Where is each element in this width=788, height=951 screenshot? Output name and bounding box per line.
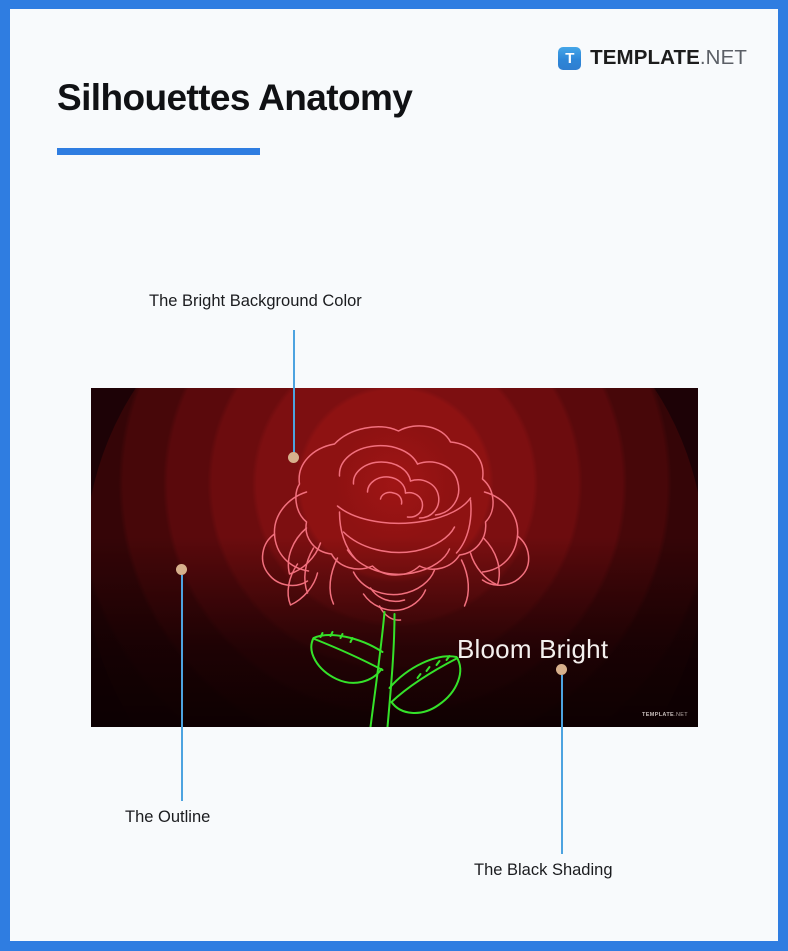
annotation-connector-outline — [181, 575, 183, 801]
annotation-connector-black-shading — [561, 675, 563, 854]
document-page: T TEMPLATE.NET Silhouettes Anatomy — [10, 9, 778, 941]
brand-name-tld: .NET — [700, 46, 747, 69]
logo-letter-t: T — [565, 51, 574, 66]
annotation-dot-bright-background-color — [288, 452, 299, 463]
page-title: Silhouettes Anatomy — [57, 75, 412, 121]
artwork-caption: Bloom Bright — [457, 636, 608, 662]
page-border: T TEMPLATE.NET Silhouettes Anatomy — [0, 0, 788, 951]
template-net-logo-icon: T — [558, 47, 581, 70]
brand-logo: T TEMPLATE.NET — [558, 47, 747, 70]
watermark-bold: TEMPLATE — [642, 712, 674, 718]
annotation-label-black-shading: The Black Shading — [474, 861, 613, 881]
title-underline-rule — [57, 148, 260, 155]
annotation-dot-black-shading — [556, 664, 567, 675]
annotation-label-bright-background-color: The Bright Background Color — [149, 292, 362, 312]
annotation-label-outline: The Outline — [125, 808, 210, 828]
brand-wordmark: TEMPLATE.NET — [590, 48, 747, 69]
artwork-watermark: TEMPLATE.NET — [642, 712, 688, 718]
watermark-tld: .NET — [674, 712, 688, 718]
brand-name-bold: TEMPLATE — [590, 46, 700, 69]
annotation-dot-outline — [176, 564, 187, 575]
annotation-connector-bright-background-color — [293, 330, 295, 461]
